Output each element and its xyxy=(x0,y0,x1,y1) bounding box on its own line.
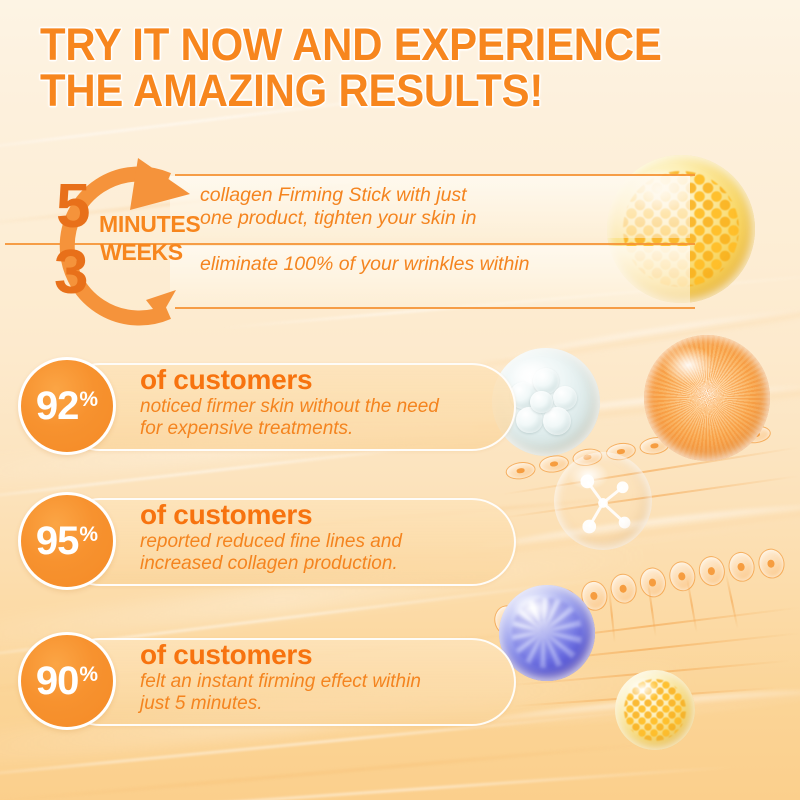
stat-percent-badge: 92 % xyxy=(18,357,116,455)
stat-percent-badge: 90 % xyxy=(18,632,116,730)
stat-percent-value: 92 xyxy=(36,386,79,426)
skin-cell-row-middle xyxy=(488,533,800,634)
stat-block-92: of customers noticed firmer skin without… xyxy=(18,357,518,457)
stat-percent-value: 90 xyxy=(36,661,79,701)
stat-heading: of customers xyxy=(140,365,510,394)
cycle-number-5: 5 xyxy=(56,176,90,238)
honeycomb-serum-sphere-small xyxy=(615,670,695,750)
stat-block-90: of customers felt an instant firming eff… xyxy=(18,632,518,732)
cycle-text-weeks: eliminate 100% of your wrinkles within xyxy=(200,253,529,276)
serum-artwork xyxy=(500,0,800,800)
poster-canvas: TRY IT NOW AND EXPERIENCE THE AMAZING RE… xyxy=(0,0,800,800)
stat-percent-symbol: % xyxy=(79,389,98,410)
stat-body: felt an instant firming effect within ju… xyxy=(140,671,510,715)
cycle-unit-minutes: MINUTES xyxy=(99,213,200,236)
skin-cell-row-upper xyxy=(499,409,800,490)
radial-burst-sphere xyxy=(644,335,770,461)
stat-percent-symbol: % xyxy=(79,524,98,545)
stat-percent-badge: 95 % xyxy=(18,492,116,590)
stat-heading: of customers xyxy=(140,640,510,669)
molecule-serum-sphere xyxy=(554,452,652,550)
stat-body: noticed firmer skin without the need for… xyxy=(140,396,510,440)
cycle-text-minutes: collagen Firming Stick with just one pro… xyxy=(200,184,476,230)
stat-body: reported reduced fine lines and increase… xyxy=(140,531,510,575)
stat-heading: of customers xyxy=(140,500,510,529)
page-headline: TRY IT NOW AND EXPERIENCE THE AMAZING RE… xyxy=(40,22,710,114)
stat-percent-symbol: % xyxy=(79,664,98,685)
stat-percent-value: 95 xyxy=(36,521,79,561)
cycle-unit-weeks: WEEKS xyxy=(100,241,183,264)
cycle-number-3: 3 xyxy=(54,242,88,304)
stat-block-95: of customers reported reduced fine lines… xyxy=(18,492,518,592)
molecule-icon xyxy=(554,452,652,550)
